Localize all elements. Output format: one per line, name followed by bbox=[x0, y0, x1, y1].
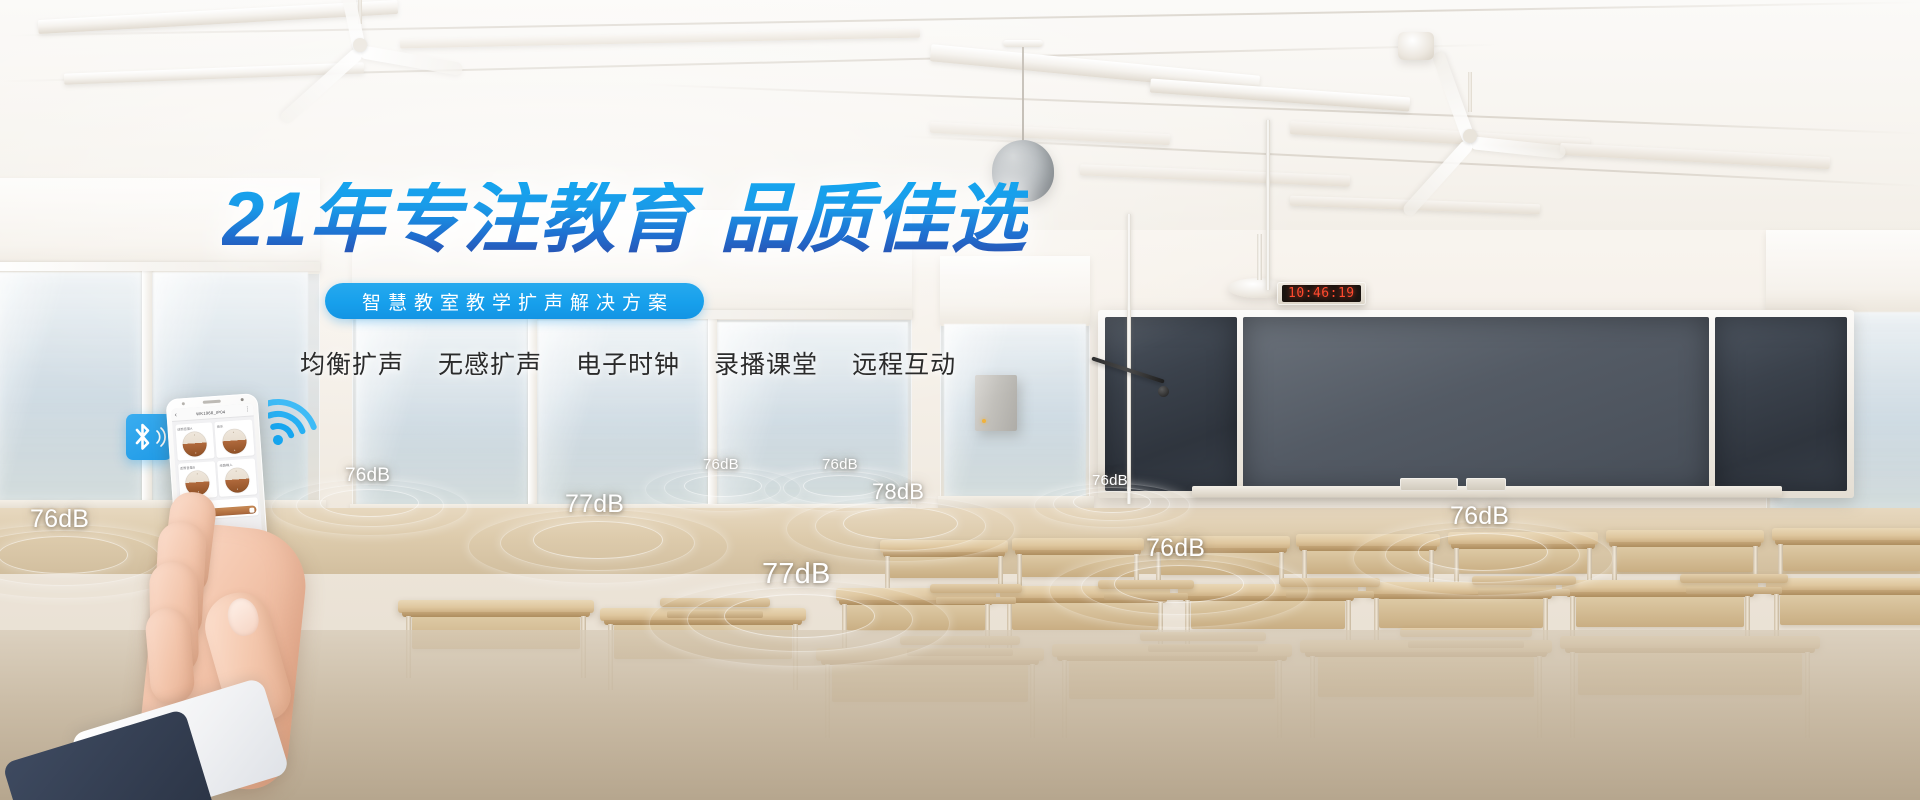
rotary-knob[interactable] bbox=[222, 428, 248, 455]
feature-item-3: 录播课堂 bbox=[714, 345, 818, 381]
bluetooth-icon bbox=[126, 414, 172, 460]
little-finger bbox=[144, 606, 196, 705]
sound-ripple bbox=[1049, 553, 1309, 628]
window-mullion bbox=[0, 262, 320, 271]
student-chair bbox=[930, 584, 1022, 610]
feature-item-4: 远程互动 bbox=[852, 345, 956, 381]
chair-back bbox=[1680, 574, 1788, 583]
db-marker: 76dB bbox=[1092, 472, 1128, 489]
db-marker: 76dB bbox=[822, 456, 858, 473]
headline-part-2: 品质佳选 bbox=[720, 177, 1028, 262]
db-marker: 76dB bbox=[703, 456, 739, 473]
ceiling-fan bbox=[250, 0, 470, 90]
chair-seat bbox=[936, 597, 1017, 604]
desk-panel bbox=[1780, 595, 1920, 625]
phone-sensor bbox=[182, 402, 185, 405]
phone-front-camera bbox=[240, 397, 244, 401]
ceiling-speaker bbox=[1398, 32, 1434, 60]
electronic-clock: 10:46:19 bbox=[1277, 282, 1366, 305]
clock-display: 10:46:19 bbox=[1282, 285, 1361, 302]
db-marker: 76dB bbox=[30, 505, 89, 534]
signal-waves-icon bbox=[155, 426, 167, 448]
sound-ripple bbox=[1034, 483, 1190, 528]
student-chair bbox=[1680, 574, 1788, 602]
feature-item-1: 无感扩声 bbox=[438, 345, 542, 381]
speaker-stem bbox=[1257, 234, 1262, 280]
knob-label: 话筒音量A bbox=[177, 425, 193, 431]
db-marker: 78dB bbox=[872, 479, 924, 505]
feature-list: 均衡扩声无感扩声电子时钟录播课堂远程互动 bbox=[300, 345, 956, 381]
fan-rod bbox=[1468, 72, 1472, 112]
db-marker: 76dB bbox=[1146, 534, 1205, 563]
db-marker: 76dB bbox=[1450, 502, 1509, 531]
blackboard-panel-right bbox=[1715, 317, 1847, 491]
db-marker: 77dB bbox=[565, 490, 624, 519]
board-control-panel bbox=[1400, 478, 1458, 491]
window-blind bbox=[940, 256, 1090, 326]
sound-ripple bbox=[1353, 521, 1613, 596]
fan-blade bbox=[1469, 136, 1566, 159]
interactive-display-panel bbox=[1243, 317, 1709, 491]
wall-speaker bbox=[975, 375, 1017, 431]
microphone-head bbox=[1158, 386, 1169, 397]
subtitle-badge-label: 智慧教室教学扩声解决方案 bbox=[355, 288, 674, 315]
microphone-stand bbox=[1122, 214, 1136, 504]
app-title: WK1968_IP04 bbox=[196, 409, 225, 416]
feature-item-2: 电子时钟 bbox=[576, 345, 680, 381]
speaker-wire bbox=[1022, 47, 1024, 145]
chair-seat bbox=[1686, 587, 1781, 594]
page-title: 21年专注教育品质佳选 bbox=[222, 182, 1028, 258]
wifi-waves-icon bbox=[268, 386, 338, 448]
knob-control[interactable]: 话筒音量A bbox=[175, 422, 215, 461]
db-marker: 77dB bbox=[762, 558, 831, 591]
chair-back bbox=[930, 584, 1022, 593]
blackboard bbox=[1098, 310, 1854, 498]
sound-ripple bbox=[786, 496, 1015, 562]
headline-part-1: 21年专注教育 bbox=[222, 177, 694, 262]
feature-item-0: 均衡扩声 bbox=[300, 345, 404, 381]
subtitle-badge: 智慧教室教学扩声解决方案 bbox=[325, 283, 704, 319]
speaker-status-led bbox=[982, 419, 986, 423]
board-control-panel bbox=[1466, 478, 1506, 491]
ceiling-mount-plate bbox=[1003, 40, 1043, 47]
desk-panel bbox=[1783, 545, 1920, 571]
mic-pole bbox=[1127, 214, 1131, 504]
control-row: 话筒音量A 音乐 bbox=[175, 419, 254, 461]
hand bbox=[110, 466, 440, 796]
rotary-knob[interactable] bbox=[182, 431, 208, 458]
microphone-stand bbox=[1262, 120, 1274, 290]
knob-control[interactable]: 音乐 bbox=[214, 419, 254, 458]
desk-panel bbox=[1617, 547, 1753, 572]
phone-earpiece bbox=[203, 400, 221, 404]
fan-blade bbox=[359, 45, 464, 76]
fan-hub bbox=[1463, 129, 1477, 143]
sound-ripple bbox=[649, 580, 951, 667]
mic-pole bbox=[1266, 120, 1270, 290]
knob-label: 音乐 bbox=[217, 423, 224, 428]
window-blind bbox=[1766, 230, 1920, 314]
chevron-left-icon[interactable]: ‹ bbox=[174, 411, 177, 418]
banner-stage: 10:46:19 bbox=[0, 0, 1920, 800]
hand-holding-phone: ‹ WK1968_IP04 ⋮ 话筒音量A 音乐 bbox=[110, 388, 540, 800]
ceiling-fan bbox=[1370, 96, 1570, 176]
fan-hub bbox=[353, 38, 367, 52]
more-vertical-icon[interactable]: ⋮ bbox=[244, 407, 250, 413]
